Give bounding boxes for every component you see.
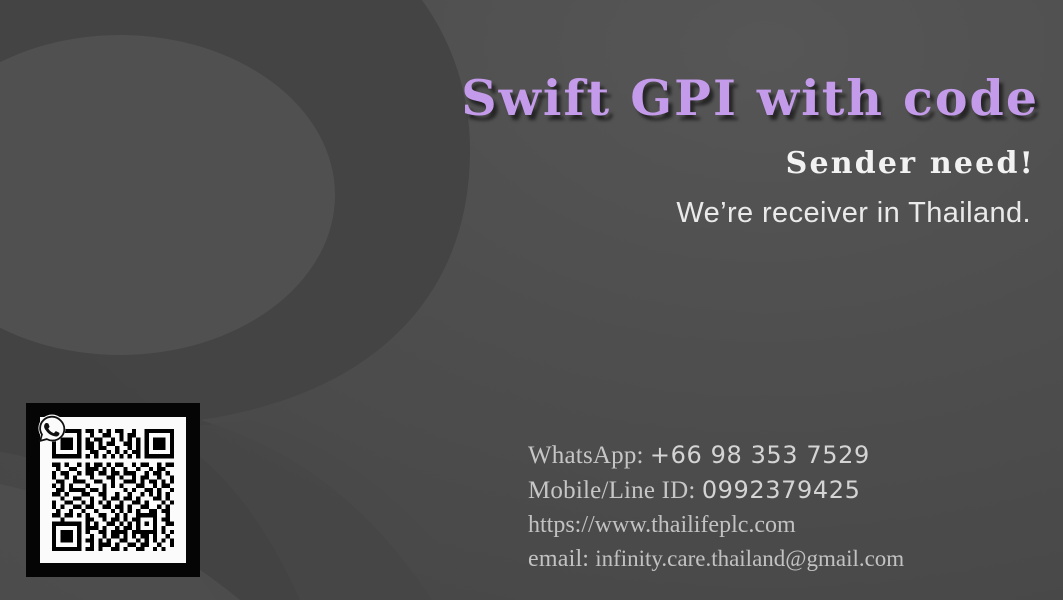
business-card: Swift GPI with code Sender need! We’re r… <box>0 0 1063 600</box>
whatsapp-qr-code[interactable] <box>26 403 200 577</box>
whatsapp-label: WhatsApp: <box>528 442 644 469</box>
contact-whatsapp: WhatsApp: +66 98 353 7529 <box>528 438 904 473</box>
mobile-label: Mobile/Line ID: <box>528 477 696 504</box>
headline-block: Swift GPI with code Sender need! We’re r… <box>0 74 1039 230</box>
qr-code-bitmap <box>40 417 186 563</box>
contact-email: email: infinity.care.thailand@gmail.com <box>528 542 904 576</box>
contact-website[interactable]: https://www.thailifeplc.com <box>528 508 904 542</box>
headline-tagline: We’re receiver in Thailand. <box>0 197 1039 230</box>
email-label: email: <box>528 546 589 572</box>
contact-block: WhatsApp: +66 98 353 7529 Mobile/Line ID… <box>528 438 904 576</box>
contact-mobile: Mobile/Line ID: 0992379425 <box>528 473 904 508</box>
mobile-number[interactable]: 0992379425 <box>702 476 861 504</box>
whatsapp-icon <box>35 412 69 446</box>
page-title: Swift GPI with code <box>0 74 1039 124</box>
headline-subtitle: Sender need! <box>0 146 1039 181</box>
whatsapp-number[interactable]: +66 98 353 7529 <box>650 441 870 469</box>
website-url[interactable]: https://www.thailifeplc.com <box>528 512 796 538</box>
email-address[interactable]: infinity.care.thailand@gmail.com <box>595 546 904 571</box>
